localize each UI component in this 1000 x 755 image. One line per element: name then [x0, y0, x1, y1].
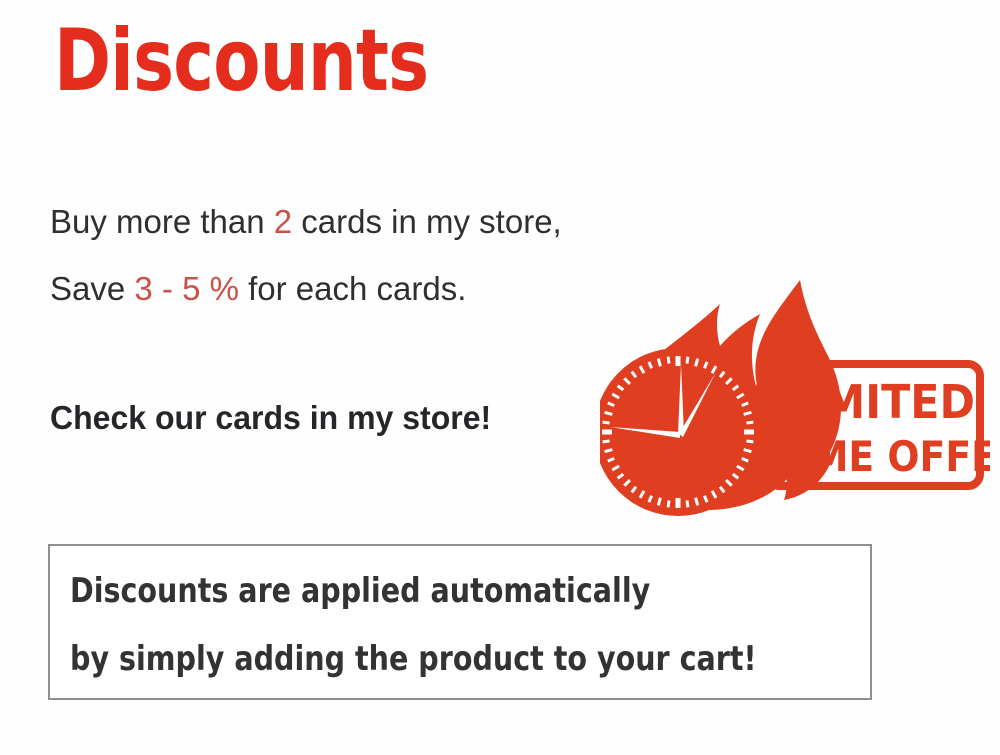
promo-line-1-suffix: cards in my store,	[292, 203, 562, 240]
promo-line-2: Save 3 - 5 % for each cards.	[50, 272, 466, 305]
promo-line-1: Buy more than 2 cards in my store,	[50, 205, 562, 238]
page-title: Discounts	[54, 18, 428, 104]
clock-face	[600, 348, 762, 516]
promo-line-2-value: 3 - 5 %	[134, 270, 239, 307]
notice-box: Discounts are applied automatically by s…	[48, 544, 872, 700]
flame-clock-icon: LIMITED TIME OFFER	[600, 268, 990, 518]
call-to-action-text: Check our cards in my store!	[50, 401, 491, 434]
badge-line-2: TIME OFFER	[771, 433, 990, 481]
promo-line-2-suffix: for each cards.	[239, 270, 466, 307]
promo-banner: Discounts Buy more than 2 cards in my st…	[0, 0, 1000, 755]
notice-line-1: Discounts are applied automatically	[70, 574, 650, 608]
promo-line-1-prefix: Buy more than	[50, 203, 274, 240]
limited-time-offer-graphic: LIMITED TIME OFFER	[600, 268, 990, 518]
badge-line-1: LIMITED	[779, 377, 975, 430]
notice-line-2: by simply adding the product to your car…	[70, 642, 757, 676]
promo-line-2-prefix: Save	[50, 270, 134, 307]
promo-line-1-value: 2	[274, 203, 292, 240]
